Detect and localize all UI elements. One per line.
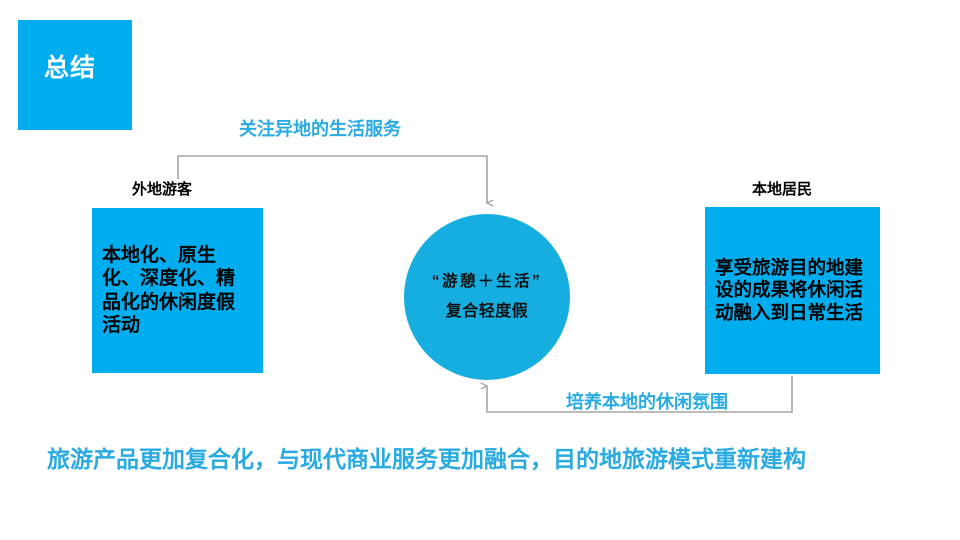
connector-left-to-center [178,156,487,203]
right-box-text: 享受旅游目的地建设的成果将休闲活动融入到日常生活 [715,257,870,325]
center-circle-line-1: “游憩＋生活” [432,274,543,290]
left-box: 本地化、原生化、深度化、精品化的休闲度假活动 [92,208,263,373]
center-circle-line-2: 复合轻度假 [446,304,529,320]
slide-canvas: 总结 关注异地的生活服务 培养本地的休闲氛围 外地游客 本地化、原生化、深度化、… [0,0,960,540]
center-circle: “游憩＋生活” 复合轻度假 [404,214,570,380]
top-flow-caption: 关注异地的生活服务 [239,120,401,138]
left-box-text: 本地化、原生化、深度化、精品化的休闲度假活动 [102,244,253,337]
right-box: 享受旅游目的地建设的成果将休闲活动融入到日常生活 [705,207,880,374]
bottom-flow-caption: 培养本地的休闲氛围 [566,393,728,411]
conclusion-text: 旅游产品更加复合化，与现代商业服务更加融合，目的地旅游模式重新建构 [47,448,806,471]
right-group-label: 本地居民 [752,182,812,197]
left-group-label: 外地游客 [132,182,192,197]
